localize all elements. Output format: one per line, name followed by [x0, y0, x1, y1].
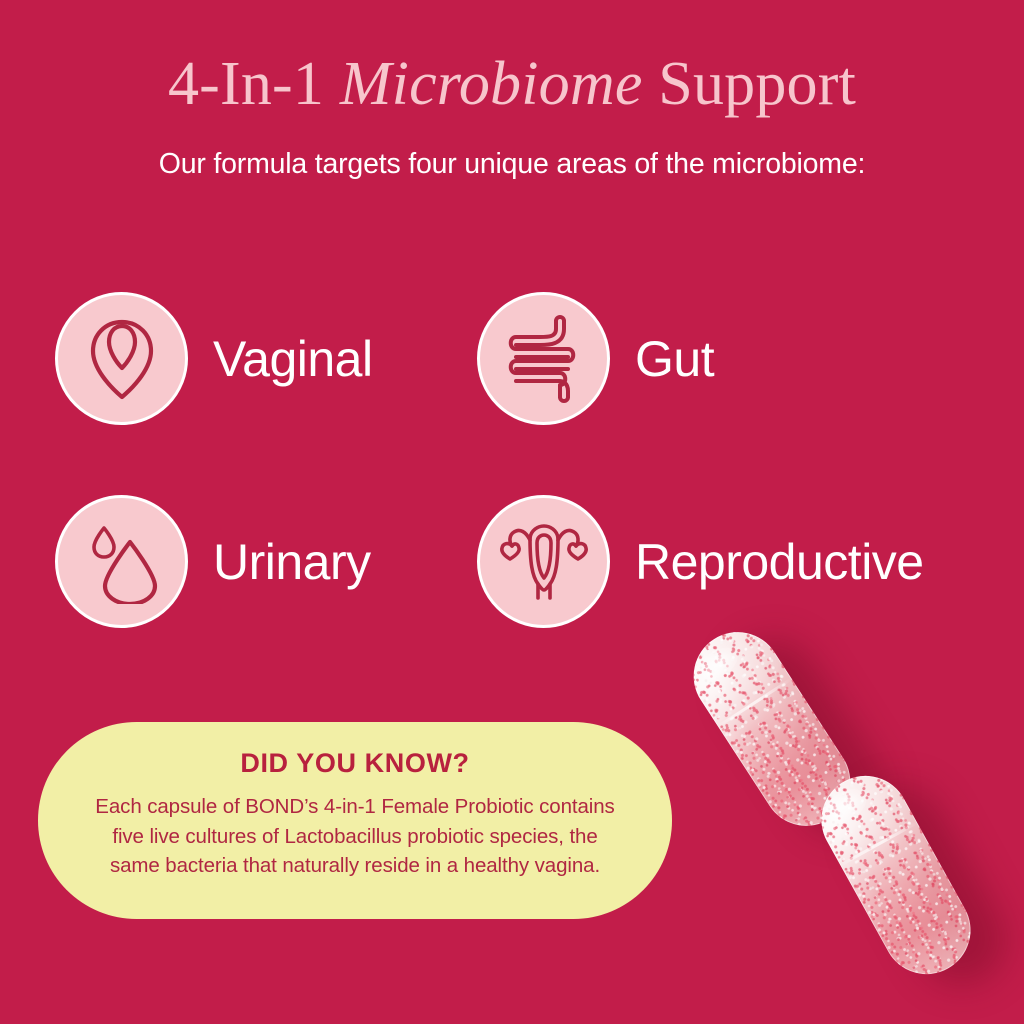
- callout-body: Each capsule of BOND’s 4-in-1 Female Pro…: [90, 792, 620, 881]
- headline-part-1: 4-In-1: [168, 50, 340, 118]
- feature-label: Vaginal: [213, 330, 373, 388]
- feature-label: Gut: [635, 330, 714, 388]
- callout-body-line: Each capsule of BOND’s 4-in-1 Female Pro…: [90, 792, 620, 822]
- feature-label: Urinary: [213, 533, 371, 591]
- marketing-poster: 4-In-1 Microbiome Support Our formula ta…: [0, 0, 1024, 1024]
- probiotic-capsules: [700, 600, 1024, 1024]
- uterus-icon: [496, 518, 592, 606]
- headline-part-2: Support: [643, 50, 856, 118]
- water-droplets-icon: [80, 520, 164, 604]
- intestine-icon: [498, 313, 590, 405]
- callout-body-line: same bacteria that naturally reside in a…: [90, 851, 620, 881]
- feature-label: Reproductive: [635, 533, 924, 591]
- vaginal-icon: [83, 316, 161, 402]
- page-title: 4-In-1 Microbiome Support: [0, 52, 1024, 117]
- callout-body-line: five live cultures of Lactobacillus prob…: [90, 822, 620, 852]
- feature-item-gut: Gut: [477, 292, 714, 425]
- headline-emphasis: Microbiome: [340, 50, 643, 118]
- did-you-know-callout: DID YOU KNOW? Each capsule of BOND’s 4-i…: [38, 722, 672, 919]
- intestine-icon-badge: [477, 292, 610, 425]
- capsule-granules: [806, 760, 987, 990]
- feature-grid: Vaginal Gut: [0, 282, 1024, 642]
- callout-title: DID YOU KNOW?: [90, 748, 620, 779]
- uterus-icon-badge: [477, 495, 610, 628]
- page-subtitle: Our formula targets four unique areas of…: [0, 148, 1024, 181]
- feature-item-vaginal: Vaginal: [55, 292, 373, 425]
- vaginal-icon-badge: [55, 292, 188, 425]
- feature-item-urinary: Urinary: [55, 495, 371, 628]
- capsule-bottom: [806, 760, 987, 990]
- water-droplets-icon-badge: [55, 495, 188, 628]
